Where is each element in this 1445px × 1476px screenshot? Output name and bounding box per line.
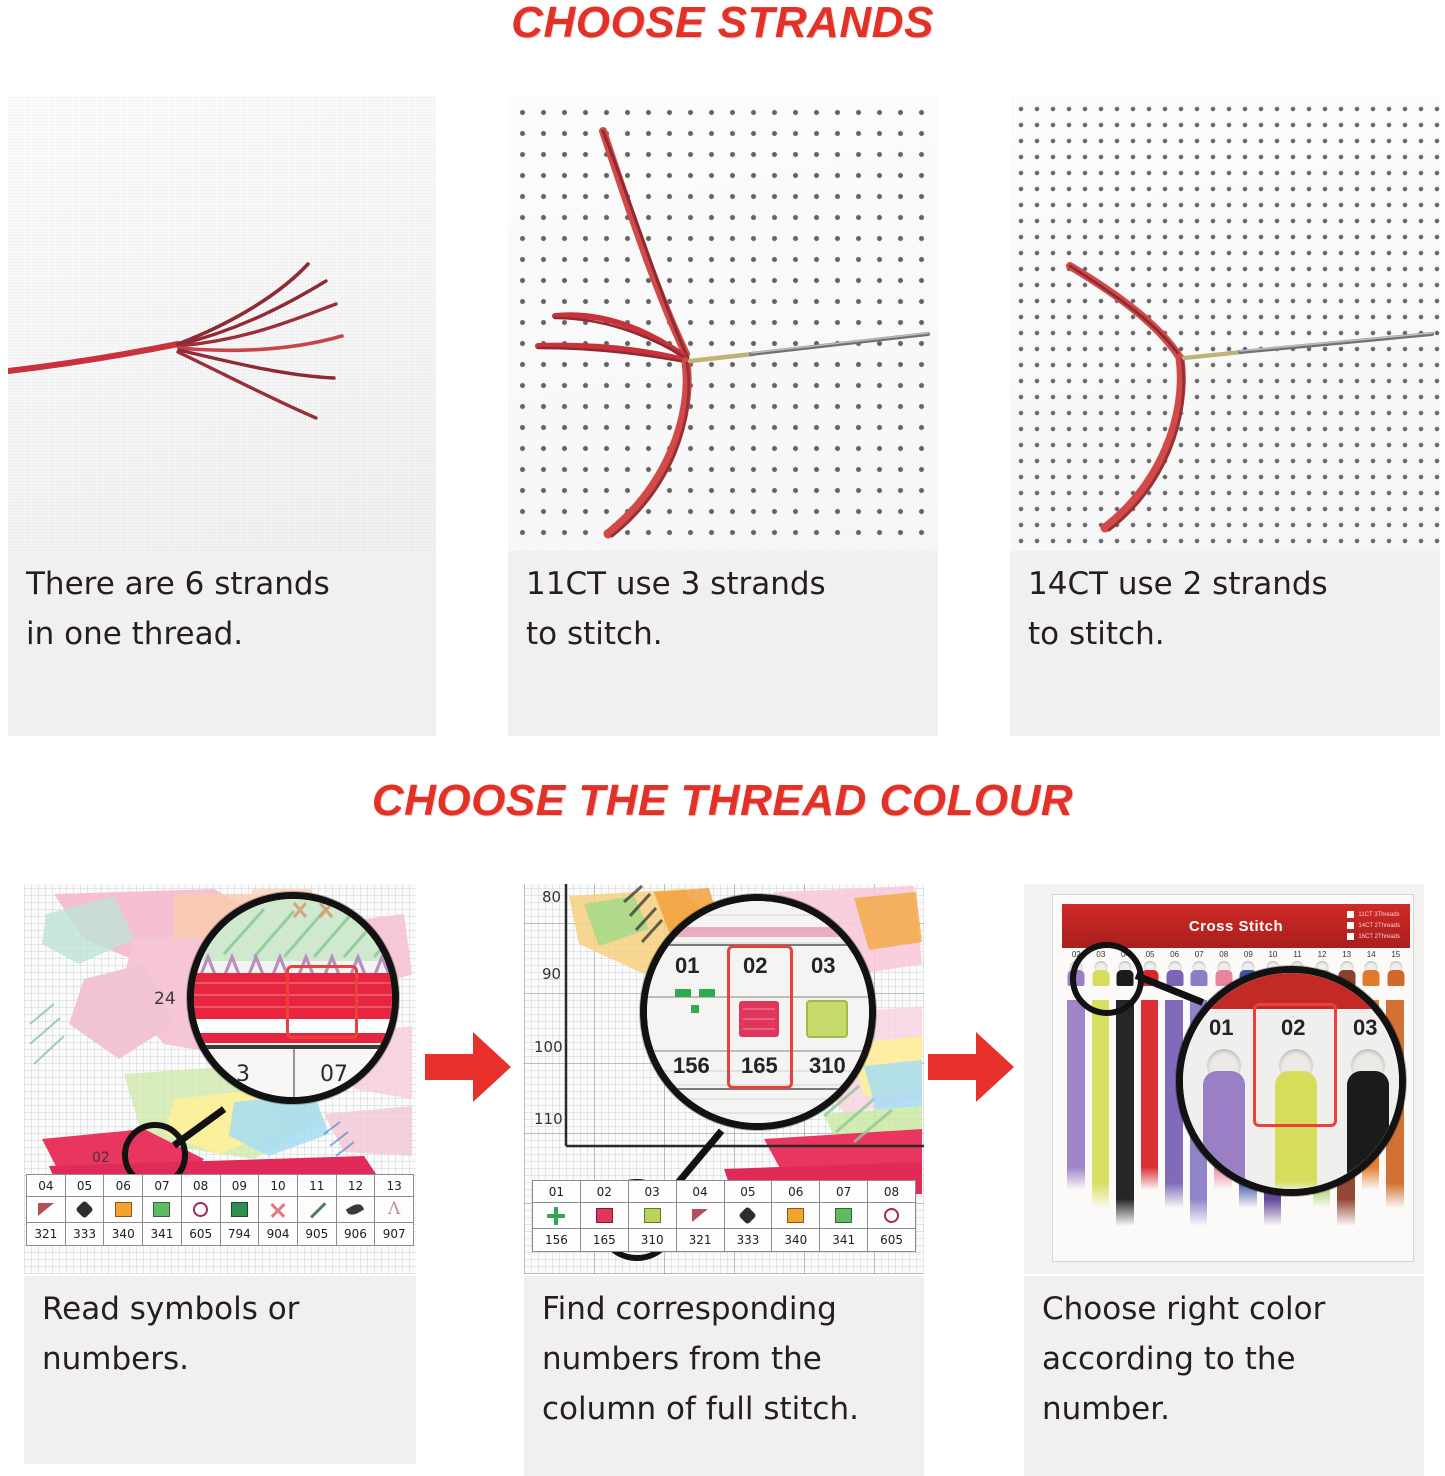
legend-number: 06 <box>772 1181 819 1203</box>
legend-symbol <box>772 1203 819 1229</box>
thread-slot-number: 13 <box>1334 950 1359 959</box>
thread-slot-number: 09 <box>1236 950 1261 959</box>
svg-text:02: 02 <box>92 1150 110 1166</box>
svg-text:100: 100 <box>534 1038 563 1056</box>
thread-slot-number: 10 <box>1261 950 1286 959</box>
svg-text:90: 90 <box>542 965 561 983</box>
legend-symbol <box>581 1203 628 1229</box>
magnified-thread-slot[interactable]: 01 <box>1191 1009 1259 1191</box>
symbol-lambda: Λ <box>388 1201 400 1218</box>
magnified-thread-skein <box>1203 1071 1245 1191</box>
symbol-x-cross <box>269 1201 287 1219</box>
panel-find-numbers: 80 90 100 110 <box>524 884 924 1476</box>
thread-fall <box>1116 1000 1134 1226</box>
legend-number: 12 <box>337 1175 375 1197</box>
legend-dmc-code: 341 <box>143 1223 181 1245</box>
legend-dmc-code: 794 <box>221 1223 259 1245</box>
panel-choose-color: Cross Stitch 11CT 3Threads14CT 2Threads1… <box>1024 884 1424 1476</box>
legend-dmc-code: 906 <box>337 1223 375 1245</box>
magnified-number-01: 01 <box>675 953 699 979</box>
needle-three-strands-illustration <box>508 96 938 551</box>
thread-skein-knot <box>1166 970 1183 986</box>
legend-column[interactable]: 11905 <box>298 1175 337 1245</box>
legend-symbol <box>104 1197 142 1223</box>
thread-slot-number: 08 <box>1211 950 1236 959</box>
magnifier-find-numbers: 010203156165310 <box>640 894 876 1130</box>
arrow-right-icon-1 <box>425 1030 511 1104</box>
legend-dmc-code: 156 <box>533 1229 580 1251</box>
svg-text:80: 80 <box>542 888 561 906</box>
legend-symbol <box>27 1197 65 1223</box>
legend-number: 10 <box>259 1175 297 1197</box>
legend-dmc-code: 321 <box>677 1229 724 1251</box>
thread-six-strands-illustration <box>8 96 436 551</box>
legend-dmc-code: 341 <box>820 1229 867 1251</box>
svg-text:24: 24 <box>154 989 176 1009</box>
legend-dmc-code: 905 <box>298 1223 336 1245</box>
legend-column[interactable]: 10904 <box>259 1175 298 1245</box>
legend-dmc-code: 605 <box>868 1229 915 1251</box>
legend-dmc-code: 907 <box>375 1223 413 1245</box>
photo-thread-card: Cross Stitch 11CT 3Threads14CT 2Threads1… <box>1024 884 1424 1274</box>
legend-symbol: Λ <box>375 1197 413 1223</box>
symbol-triangle <box>38 1203 54 1216</box>
thread-slot-number: 07 <box>1187 950 1212 959</box>
symbol-green-square <box>153 1202 170 1217</box>
legend-number: 01 <box>533 1181 580 1203</box>
caption-11ct: 11CT use 3 strands to stitch. <box>508 551 938 736</box>
magnified-thread-skein <box>1347 1071 1389 1191</box>
section-heading-choose-thread-colour: CHOOSE THE THREAD COLOUR <box>0 776 1445 826</box>
legend-column[interactable]: 12906 <box>337 1175 376 1245</box>
symbol-circle <box>884 1208 899 1223</box>
legend-symbol <box>337 1197 375 1223</box>
legend-column[interactable]: 13Λ907 <box>375 1175 413 1245</box>
red-highlight-box-symbol <box>286 965 358 1039</box>
legend-symbol <box>66 1197 104 1223</box>
thread-fall <box>1067 1000 1085 1190</box>
ct-option[interactable]: 14CT 2Threads <box>1347 922 1400 929</box>
ct-option[interactable]: 16CT 2Threads <box>1347 933 1400 940</box>
legend-table-symbols: 0432105333063400734108605097941090411905… <box>26 1174 414 1246</box>
thread-fall <box>1141 1000 1159 1190</box>
photo-11ct-aida <box>508 96 938 551</box>
card-title: Cross Stitch <box>1189 918 1283 935</box>
symbol-dark-green-square <box>231 1202 248 1217</box>
ct-option-label: 16CT 2Threads <box>1358 934 1400 940</box>
magnifier-read-symbols: 3 07 <box>187 892 399 1104</box>
checkbox-icon[interactable] <box>1347 933 1354 940</box>
legend-number: 06 <box>104 1175 142 1197</box>
legend-number: 08 <box>868 1181 915 1203</box>
photo-14ct-aida <box>1010 96 1440 551</box>
legend-column[interactable]: 05333 <box>725 1181 773 1251</box>
legend-column[interactable]: 07341 <box>143 1175 182 1245</box>
needle-two-strands-illustration <box>1010 96 1440 551</box>
legend-column[interactable]: 09794 <box>221 1175 260 1245</box>
legend-column[interactable]: 06340 <box>104 1175 143 1245</box>
legend-number: 03 <box>629 1181 676 1203</box>
legend-table-numbers: 0115602165033100432105333063400734108605 <box>532 1180 916 1252</box>
legend-number: 13 <box>375 1175 413 1197</box>
legend-symbol <box>677 1203 724 1229</box>
legend-symbol <box>533 1203 580 1229</box>
symbol-yellowgreen-square <box>644 1208 661 1223</box>
legend-dmc-code: 321 <box>27 1223 65 1245</box>
panel-11ct-three-strands: 11CT use 3 strands to stitch. <box>508 96 938 736</box>
caption-read-symbols: Read symbols or numbers. <box>24 1276 416 1464</box>
svg-text:3: 3 <box>236 1062 250 1087</box>
caption-14ct: 14CT use 2 strands to stitch. <box>1010 551 1440 736</box>
legend-symbol <box>820 1203 867 1229</box>
magnified-dmc-156: 156 <box>673 1053 710 1079</box>
legend-symbol <box>182 1197 220 1223</box>
legend-symbol <box>868 1203 915 1229</box>
symbol-slash <box>308 1201 326 1219</box>
symbol-green-square <box>835 1208 852 1223</box>
svg-text:07: 07 <box>320 1062 348 1087</box>
legend-column[interactable]: 04321 <box>677 1181 725 1251</box>
legend-symbol <box>259 1197 297 1223</box>
ct-option-label: 11CT 3Threads <box>1358 912 1399 918</box>
checkbox-icon[interactable] <box>1347 922 1354 929</box>
legend-dmc-code: 340 <box>104 1223 142 1245</box>
thread-slot-number: 14 <box>1359 950 1384 959</box>
thread-slot-number: 12 <box>1310 950 1335 959</box>
legend-dmc-code: 605 <box>182 1223 220 1245</box>
legend-symbol <box>143 1197 181 1223</box>
legend-number: 02 <box>581 1181 628 1203</box>
symbol-leaf <box>346 1202 364 1218</box>
legend-number: 04 <box>677 1181 724 1203</box>
legend-column[interactable]: 08605 <box>182 1175 221 1245</box>
legend-number: 07 <box>143 1175 181 1197</box>
legend-number: 04 <box>27 1175 65 1197</box>
magnified-slot-number-01: 01 <box>1209 1015 1233 1041</box>
legend-column[interactable]: 02165 <box>581 1181 629 1251</box>
legend-dmc-code: 333 <box>66 1223 104 1245</box>
thread-slot-number: 15 <box>1384 950 1409 959</box>
red-highlight-box-02 <box>727 945 793 1089</box>
arrow-right-icon-2 <box>928 1030 1014 1104</box>
svg-text:110: 110 <box>534 1110 563 1128</box>
legend-column[interactable]: 04321 <box>27 1175 66 1245</box>
legend-symbol <box>725 1203 772 1229</box>
symbol-circle <box>193 1202 208 1217</box>
legend-dmc-code: 904 <box>259 1223 297 1245</box>
legend-number: 08 <box>182 1175 220 1197</box>
legend-number: 11 <box>298 1175 336 1197</box>
thread-slot-number: 06 <box>1162 950 1187 959</box>
legend-column[interactable]: 08605 <box>868 1181 915 1251</box>
caption-choose-color: Choose right color according to the numb… <box>1024 1276 1424 1476</box>
section-heading-choose-strands: CHOOSE STRANDS <box>0 0 1445 48</box>
symbol-hexagon <box>739 1206 757 1224</box>
caption-six-strands: There are 6 strands in one thread. <box>8 551 436 736</box>
symbol-orange-square <box>787 1208 804 1223</box>
legend-dmc-code: 165 <box>581 1229 628 1251</box>
legend-number: 05 <box>725 1181 772 1203</box>
legend-dmc-code: 310 <box>629 1229 676 1251</box>
legend-column[interactable]: 03310 <box>629 1181 677 1251</box>
magnified-dmc-310: 310 <box>809 1053 846 1079</box>
ct-option[interactable]: 11CT 3Threads <box>1347 911 1400 918</box>
symbol-green-plus <box>547 1207 565 1225</box>
thread-slot-number: 11 <box>1285 950 1310 959</box>
panel-six-strands: There are 6 strands in one thread. <box>8 96 436 736</box>
red-highlight-box-thread-02 <box>1253 1003 1337 1127</box>
symbol-hexagon <box>75 1200 93 1218</box>
legend-number: 09 <box>221 1175 259 1197</box>
legend-dmc-code: 333 <box>725 1229 772 1251</box>
thread-fall <box>1092 1000 1110 1208</box>
symbol-orange-square <box>115 1202 132 1217</box>
legend-column[interactable]: 07341 <box>820 1181 868 1251</box>
legend-column[interactable]: 01156 <box>533 1181 581 1251</box>
legend-column[interactable]: 06340 <box>772 1181 820 1251</box>
magnified-slot-number-03: 03 <box>1353 1015 1377 1041</box>
legend-column[interactable]: 05333 <box>66 1175 105 1245</box>
ct-options-list: 11CT 3Threads14CT 2Threads16CT 2Threads <box>1347 911 1400 944</box>
ct-option-label: 14CT 2Threads <box>1358 923 1400 929</box>
skein-knot <box>1166 970 1183 986</box>
legend-symbol <box>629 1203 676 1229</box>
magnifier-choose-color: 010203 <box>1176 966 1406 1196</box>
legend-symbol <box>221 1197 259 1223</box>
caption-find-numbers: Find corresponding numbers from the colu… <box>524 1276 924 1476</box>
legend-number: 07 <box>820 1181 867 1203</box>
panel-read-symbols: 24 02 <box>24 884 416 1464</box>
photo-six-strands <box>8 96 436 551</box>
checkbox-icon[interactable] <box>1347 911 1354 918</box>
magnifier-locator-circle-3 <box>1070 942 1144 1016</box>
legend-dmc-code: 340 <box>772 1229 819 1251</box>
symbol-red-square <box>596 1208 613 1223</box>
thread-slot-number: 05 <box>1138 950 1163 959</box>
card-header: Cross Stitch 11CT 3Threads14CT 2Threads1… <box>1062 904 1410 948</box>
infographic-page: CHOOSE STRANDS There are 6 strands in on… <box>0 0 1445 1476</box>
panel-14ct-two-strands: 14CT use 2 strands to stitch. <box>1010 96 1440 736</box>
legend-number: 05 <box>66 1175 104 1197</box>
magnified-thread-slot[interactable]: 03 <box>1335 1009 1403 1191</box>
magnified-number-03: 03 <box>811 953 835 979</box>
symbol-triangle <box>692 1209 708 1222</box>
legend-symbol <box>298 1197 336 1223</box>
